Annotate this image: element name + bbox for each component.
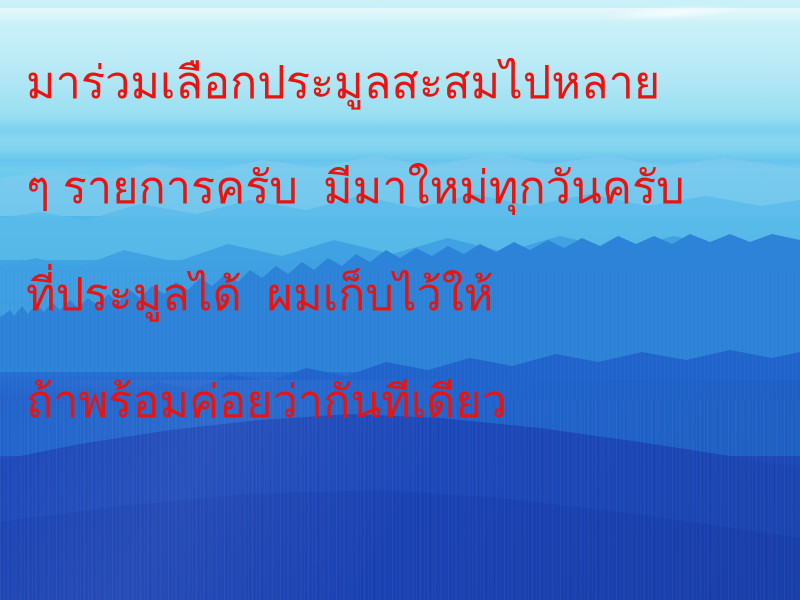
caption-overlay: มาร่วมเลือกประมูลสะสมไปหลาย ๆ รายการครับ… xyxy=(0,0,800,600)
caption-line-2: ๆ รายการครับ มีมาใหม่ทุกวันครับ xyxy=(26,165,800,210)
caption-line-3: ที่ประมูลได้ ผมเก็บไว้ให้ xyxy=(26,272,800,317)
caption-line-1: มาร่วมเลือกประมูลสะสมไปหลาย xyxy=(26,60,800,105)
promo-banner: มาร่วมเลือกประมูลสะสมไปหลาย ๆ รายการครับ… xyxy=(0,0,800,600)
caption-line-4: ถ้าพร้อมค่อยว่ากันทีเดียว xyxy=(26,379,800,424)
